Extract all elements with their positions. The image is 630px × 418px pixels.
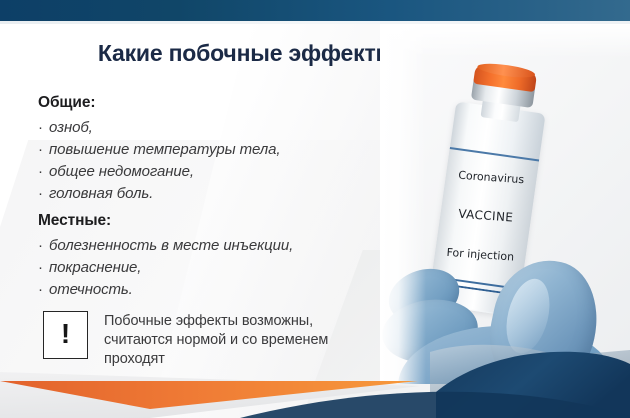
photo-top-fade [380, 24, 630, 58]
vial-label-line-2: VACCINE [440, 205, 531, 225]
exclamation-icon: ! [43, 311, 88, 359]
section-general-heading: Общие: [38, 94, 280, 112]
list-item-label: покраснение, [49, 259, 141, 276]
list-item-label: озноб, [49, 119, 93, 136]
list-item: ·покраснение, [38, 257, 293, 279]
list-item: ·общее недомогание, [38, 161, 280, 183]
photo-left-fade [380, 24, 426, 384]
note-text: Побочные эффекты возможны, считаются нор… [104, 311, 328, 369]
note-line: считаются нормой и со временем [104, 331, 328, 350]
section-general-list: ·озноб, ·повышение температуры тела, ·об… [38, 117, 280, 205]
list-item-label: повышение температуры тела, [49, 141, 280, 158]
poster-canvas: Какие побочные эффекты возможны? Coronav… [0, 0, 630, 418]
list-item: ·отечность. [38, 279, 293, 301]
section-local-list: ·болезненность в месте инъекции, ·покрас… [38, 235, 293, 301]
list-item: ·головная боль. [38, 183, 280, 205]
section-general: Общие: ·озноб, ·повышение температуры те… [38, 94, 280, 205]
bullet-icon: · [38, 117, 49, 139]
note-callout: ! Побочные эффекты возможны, считаются н… [43, 311, 328, 369]
list-item: ·повышение температуры тела, [38, 139, 280, 161]
section-local-heading: Местные: [38, 212, 293, 230]
list-item-label: головная боль. [49, 185, 153, 202]
vaccine-vial-photo: Coronavirus VACCINE For injection [380, 24, 630, 384]
note-line: Побочные эффекты возможны, [104, 312, 328, 331]
vial-label-line-1: Coronavirus [446, 168, 537, 187]
list-item-label: болезненность в месте инъекции, [49, 237, 293, 254]
list-item-label: общее недомогание, [49, 163, 194, 180]
note-line: проходят [104, 350, 328, 369]
list-item: ·озноб, [38, 117, 280, 139]
bullet-icon: · [38, 183, 49, 205]
bullet-icon: · [38, 257, 49, 279]
bullet-icon: · [38, 139, 49, 161]
bullet-icon: · [38, 161, 49, 183]
section-local: Местные: ·болезненность в месте инъекции… [38, 212, 293, 301]
top-banner-bar [0, 0, 630, 21]
list-item-label: отечность. [49, 281, 133, 298]
bullet-icon: · [38, 279, 49, 301]
list-item: ·болезненность в месте инъекции, [38, 235, 293, 257]
bullet-icon: · [38, 235, 49, 257]
